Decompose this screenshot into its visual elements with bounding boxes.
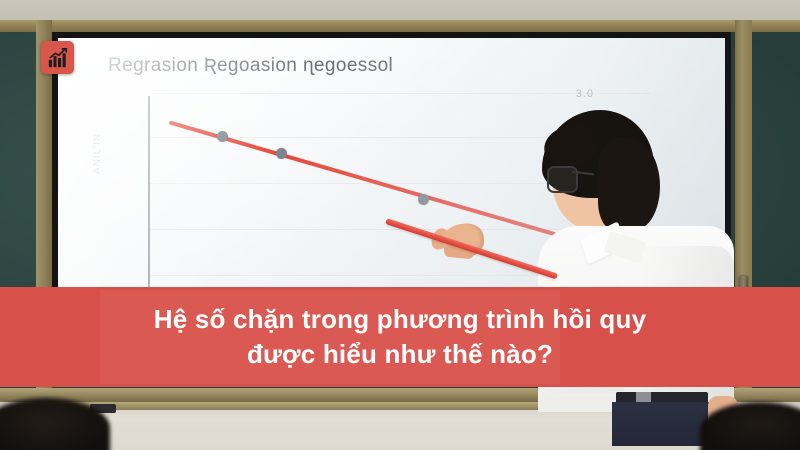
bar-chart-up-icon xyxy=(47,47,69,69)
wall-upper xyxy=(0,0,800,22)
board-frame-top xyxy=(0,20,800,32)
caption: Hệ số chặn trong phương trình hồi quy đư… xyxy=(0,287,800,387)
caption-line-2: được hiểu như thế nào? xyxy=(247,337,553,372)
caption-line-1: Hệ số chặn trong phương trình hồi quy xyxy=(154,302,646,337)
classroom-screenshot: Regrasion Ʀegoasion ɳegoessol ANIL'IN 3.… xyxy=(0,0,800,450)
hair-back xyxy=(598,138,660,230)
slide-title: Regrasion Ʀegoasion ɳegoessol xyxy=(108,55,393,77)
data-point xyxy=(217,131,228,142)
data-point xyxy=(276,148,287,159)
bar-chart-trend-logo xyxy=(41,41,74,74)
